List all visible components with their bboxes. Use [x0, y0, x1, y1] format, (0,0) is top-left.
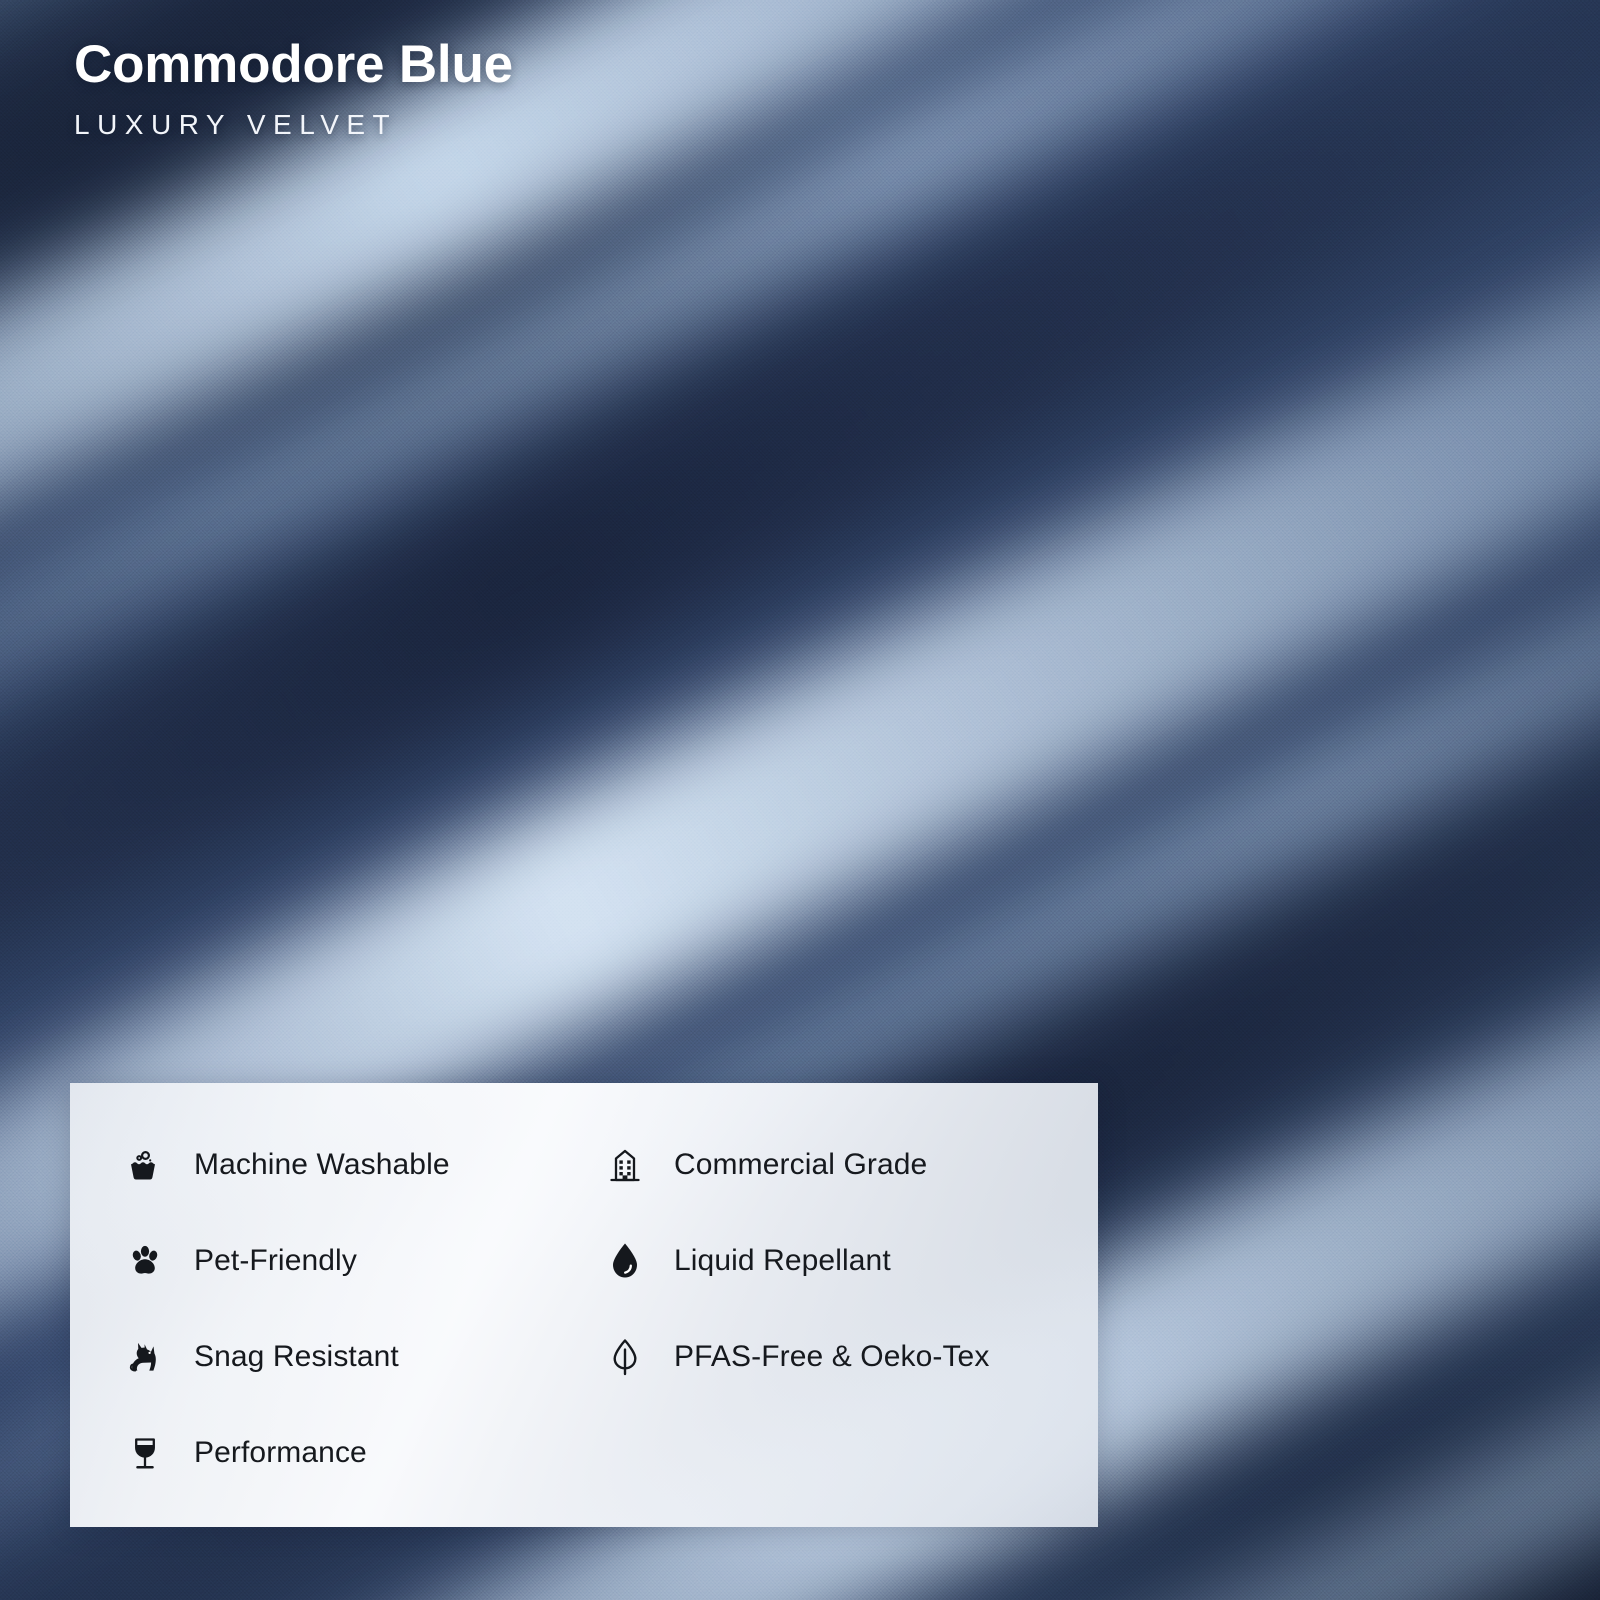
- feature-item-performance: Performance: [70, 1405, 590, 1501]
- feature-label: Machine Washable: [194, 1148, 450, 1182]
- building-icon: [602, 1142, 648, 1188]
- feature-label: Pet-Friendly: [194, 1244, 357, 1278]
- feature-item-machine-washable: Machine Washable: [70, 1117, 590, 1213]
- leaf-icon: [602, 1334, 648, 1380]
- wine-glass-icon: [122, 1430, 168, 1476]
- feature-item-pet-friendly: Pet-Friendly: [70, 1213, 590, 1309]
- feature-item-commercial-grade: Commercial Grade: [590, 1117, 1098, 1213]
- wash-basin-icon: [122, 1142, 168, 1188]
- paw-print-icon: [122, 1238, 168, 1284]
- page-title: Commodore Blue: [74, 36, 513, 93]
- product-subtitle: LUXURY VELVET: [74, 109, 513, 141]
- feature-item-snag-resistant: Snag Resistant: [70, 1309, 590, 1405]
- feature-item-pfas-free-oeko-tex: PFAS-Free & Oeko-Tex: [590, 1309, 1098, 1405]
- feature-label: Snag Resistant: [194, 1340, 399, 1374]
- feature-panel: Machine Washable Commercial Grade: [70, 1083, 1098, 1527]
- feature-label: PFAS-Free & Oeko-Tex: [674, 1340, 989, 1374]
- feature-item-liquid-repellant: Liquid Repellant: [590, 1213, 1098, 1309]
- product-header: Commodore Blue LUXURY VELVET: [74, 36, 513, 141]
- product-swatch-image: Commodore Blue LUXURY VELVET Machine Was…: [0, 0, 1600, 1600]
- feature-label: Commercial Grade: [674, 1148, 927, 1182]
- cat-icon: [122, 1334, 168, 1380]
- feature-label: Liquid Repellant: [674, 1244, 891, 1278]
- water-drop-icon: [602, 1238, 648, 1284]
- feature-label: Performance: [194, 1436, 367, 1470]
